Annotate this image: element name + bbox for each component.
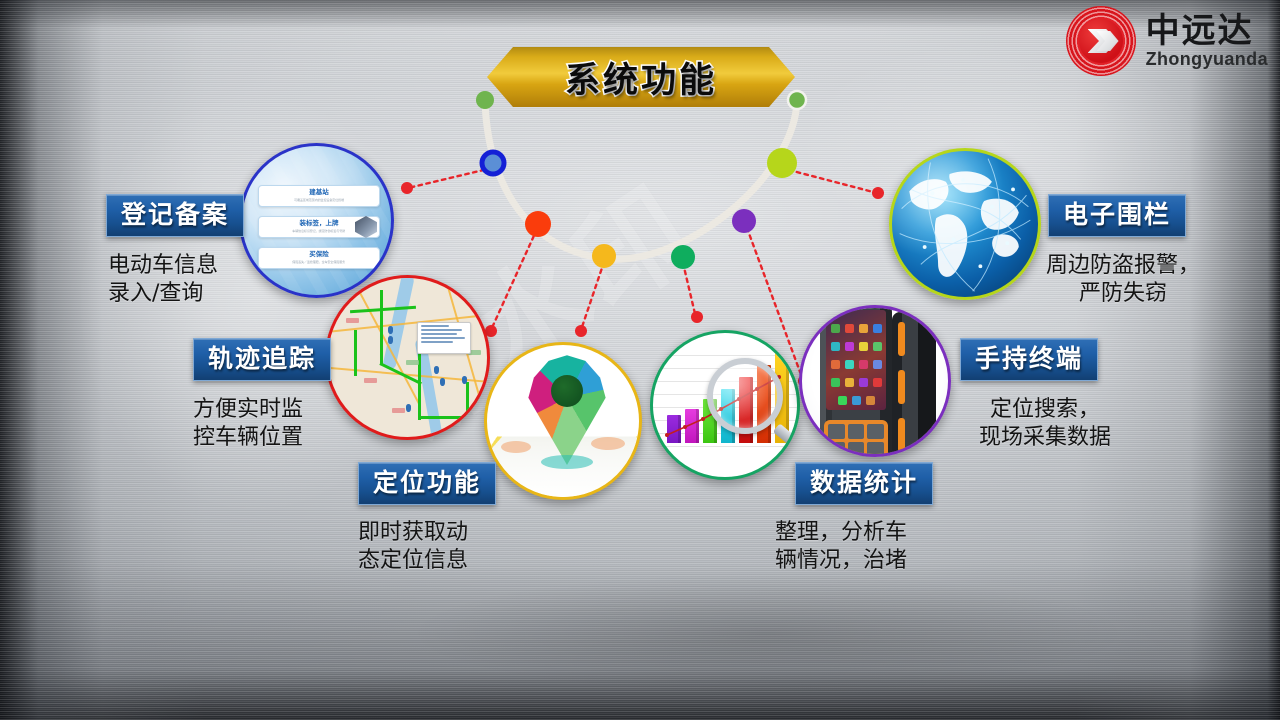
terminal-app-icon bbox=[838, 396, 847, 405]
slide-canvas: 易水印 中远达 Zhongyuanda bbox=[0, 0, 1280, 720]
locate-pin-icon bbox=[521, 353, 613, 465]
terminal-app-icon bbox=[873, 378, 882, 387]
terminal-app-icon bbox=[873, 360, 882, 369]
terminal-app-icon bbox=[852, 396, 861, 405]
thumb-locate-pin[interactable] bbox=[484, 342, 642, 500]
locate-pin-shadow bbox=[541, 455, 593, 469]
terminal-orange-strip-1 bbox=[898, 322, 905, 356]
map-pin-1 bbox=[388, 326, 393, 334]
desc-geofence: 周边防盗报警， 严防失窃 bbox=[1023, 252, 1223, 308]
terminal-app-icon bbox=[845, 378, 854, 387]
map-pin-5 bbox=[462, 376, 467, 384]
map-pin-4 bbox=[440, 378, 445, 386]
registration-card-1-sub: 可覆盖区域范围内的监控设备定位终端 bbox=[294, 199, 344, 202]
node-dot-locate bbox=[592, 244, 616, 268]
label-registration[interactable]: 登记备案 bbox=[106, 194, 244, 237]
desc-statistics: 整理，分析车 辆情况，治堵 bbox=[775, 519, 907, 575]
main-arc bbox=[485, 100, 797, 259]
label-trace[interactable]: 轨迹追踪 bbox=[193, 338, 331, 381]
map-pin-3 bbox=[434, 366, 439, 374]
map-pin-6 bbox=[406, 404, 411, 412]
terminal-screen bbox=[826, 310, 886, 410]
map-route-7 bbox=[354, 330, 357, 376]
thumb-geofence-globe[interactable] bbox=[889, 148, 1041, 300]
connector-statistics bbox=[683, 263, 696, 318]
registration-card-2-sub: 车辆信息标识登记，绑定防伪标签与号牌 bbox=[293, 230, 346, 233]
map-pin-2 bbox=[388, 336, 393, 344]
terminal-app-icon bbox=[845, 324, 854, 333]
registration-card-3-title: 买保险 bbox=[309, 252, 329, 259]
desc-locate: 即时获取动 态定位信息 bbox=[358, 519, 468, 575]
logo-name-en: Zhongyuanda bbox=[1146, 50, 1268, 68]
terminal-app-icon bbox=[859, 378, 868, 387]
thumb-handheld-terminal[interactable] bbox=[799, 305, 951, 457]
logo-icon bbox=[1066, 6, 1136, 76]
connector-endpoint-locate bbox=[575, 325, 587, 337]
connector-endpoint-statistics bbox=[691, 311, 703, 323]
node-dot-handheld bbox=[732, 209, 756, 233]
terminal-app-icon bbox=[845, 360, 854, 369]
label-locate[interactable]: 定位功能 bbox=[358, 462, 496, 505]
map-label-1 bbox=[346, 318, 359, 323]
registration-card-3-sub: 保障丢失／盗抢理赔，全车安全保障服务 bbox=[293, 261, 346, 264]
terminal-app-icon bbox=[859, 360, 868, 369]
registration-card-1: 建基站 可覆盖区域范围内的监控设备定位终端 bbox=[258, 185, 380, 207]
label-geofence[interactable]: 电子围栏 bbox=[1048, 194, 1186, 237]
map-label-2 bbox=[364, 378, 377, 383]
logo-text: 中远达 Zhongyuanda bbox=[1146, 14, 1268, 68]
thumb-trace-map[interactable] bbox=[325, 275, 490, 440]
page-title: 系统功能 bbox=[565, 52, 717, 103]
node-dot-geofence bbox=[767, 148, 797, 178]
logo-disc-icon bbox=[1079, 19, 1123, 63]
thumb-registration[interactable]: 建基站 可覆盖区域范围内的监控设备定位终端 装标签，上牌 车辆信息标识登记，绑定… bbox=[239, 143, 394, 298]
slide-title-banner: 系统功能 bbox=[487, 47, 795, 107]
connector-endpoint-geofence bbox=[872, 187, 884, 199]
terminal-orange-strip-2 bbox=[898, 370, 905, 404]
thumb-statistics-chart[interactable] bbox=[650, 330, 800, 480]
registration-card-1-title: 建基站 bbox=[309, 190, 329, 197]
locate-pin-hole bbox=[551, 375, 583, 407]
terminal-orange-strip-3 bbox=[898, 418, 905, 452]
desc-trace: 方便实时监 控车辆位置 bbox=[193, 396, 303, 452]
terminal-app-icon bbox=[859, 324, 868, 333]
globe-glow bbox=[892, 151, 1038, 297]
label-statistics[interactable]: 数据统计 bbox=[795, 462, 933, 505]
connector-endpoint-registration bbox=[401, 182, 413, 194]
company-logo: 中远达 Zhongyuanda bbox=[1066, 6, 1268, 76]
map-label-3 bbox=[406, 360, 419, 365]
node-dot-trace bbox=[525, 211, 551, 237]
map-tooltip bbox=[417, 322, 471, 354]
registration-card-2-title: 装标签，上牌 bbox=[300, 221, 339, 228]
terminal-app-icon bbox=[831, 360, 840, 369]
terminal-key[interactable] bbox=[848, 424, 865, 439]
terminal-keypad[interactable] bbox=[824, 420, 888, 457]
label-handheld[interactable]: 手持终端 bbox=[960, 338, 1098, 381]
map-label-5 bbox=[392, 408, 405, 413]
terminal-key[interactable] bbox=[828, 442, 845, 457]
desc-handheld: 定位搜索， 现场采集数据 bbox=[955, 396, 1135, 452]
connector-registration bbox=[408, 168, 492, 188]
terminal-key[interactable] bbox=[848, 442, 865, 457]
terminal-app-icon bbox=[831, 324, 840, 333]
connector-geofence bbox=[789, 170, 877, 193]
terminal-app-icon bbox=[845, 342, 854, 351]
terminal-key[interactable] bbox=[867, 424, 884, 439]
arc-end-dot-right bbox=[788, 91, 806, 109]
terminal-app-icon bbox=[873, 342, 882, 351]
node-dot-registration bbox=[482, 152, 504, 174]
map-route-6 bbox=[466, 382, 469, 420]
magnifier-lens-icon bbox=[707, 358, 783, 434]
registration-card-3: 买保险 保障丢失／盗抢理赔，全车安全保障服务 bbox=[258, 247, 380, 269]
terminal-app-icon bbox=[831, 378, 840, 387]
arc-end-dot-left bbox=[476, 91, 494, 109]
terminal-key[interactable] bbox=[867, 442, 884, 457]
desc-registration: 电动车信息 录入/查询 bbox=[108, 252, 218, 308]
map-route-2 bbox=[380, 290, 383, 364]
logo-name-cn: 中远达 bbox=[1146, 14, 1268, 48]
connector-trace bbox=[491, 229, 537, 330]
node-dot-statistics bbox=[671, 245, 695, 269]
locate-pin-shape bbox=[521, 353, 613, 465]
terminal-app-icon bbox=[859, 342, 868, 351]
terminal-app-icon bbox=[866, 396, 875, 405]
terminal-key[interactable] bbox=[828, 424, 845, 439]
connector-locate bbox=[581, 262, 604, 330]
terminal-app-icon bbox=[873, 324, 882, 333]
terminal-app-icon bbox=[831, 342, 840, 351]
map-route-5 bbox=[418, 416, 470, 419]
